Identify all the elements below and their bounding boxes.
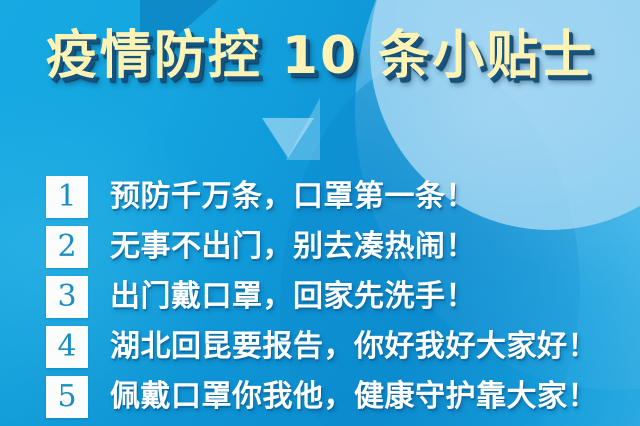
tips-list: 1 预防千万条，口罩第一条！ 2 无事不出门，别去凑热闹！ 3 出门戴口罩，回家…	[46, 176, 630, 426]
tip-number-badge: 4	[46, 326, 88, 368]
tip-number-badge: 1	[46, 176, 88, 218]
list-item: 2 无事不出门，别去凑热闹！	[46, 226, 630, 268]
tip-text: 佩戴口罩你我他，健康守护靠大家！	[110, 376, 630, 418]
list-item: 1 预防千万条，口罩第一条！	[46, 176, 630, 218]
tip-text: 无事不出门，别去凑热闹！	[110, 226, 630, 268]
tip-number-badge: 3	[46, 276, 88, 318]
list-item: 3 出门戴口罩，回家先洗手！	[46, 276, 630, 318]
poster-title-container: 疫情防控 10 条小贴士	[0, 28, 640, 84]
page-title: 疫情防控 10 条小贴士	[46, 28, 595, 84]
covid-prevention-tips-poster: 疫情防控 10 条小贴士 1 预防千万条，口罩第一条！ 2 无事不出门，别去凑热…	[0, 0, 640, 426]
list-item: 4 湖北回昆要报告，你好我好大家好！	[46, 326, 630, 368]
tip-number-badge: 2	[46, 226, 88, 268]
list-item: 5 佩戴口罩你我他，健康守护靠大家！	[46, 376, 630, 418]
tip-text: 湖北回昆要报告，你好我好大家好！	[110, 326, 630, 368]
pale-triangle-arrow-shape	[262, 118, 314, 158]
tip-number-badge: 5	[46, 376, 88, 418]
tip-text: 出门戴口罩，回家先洗手！	[110, 276, 630, 318]
tip-text: 预防千万条，口罩第一条！	[110, 176, 630, 218]
